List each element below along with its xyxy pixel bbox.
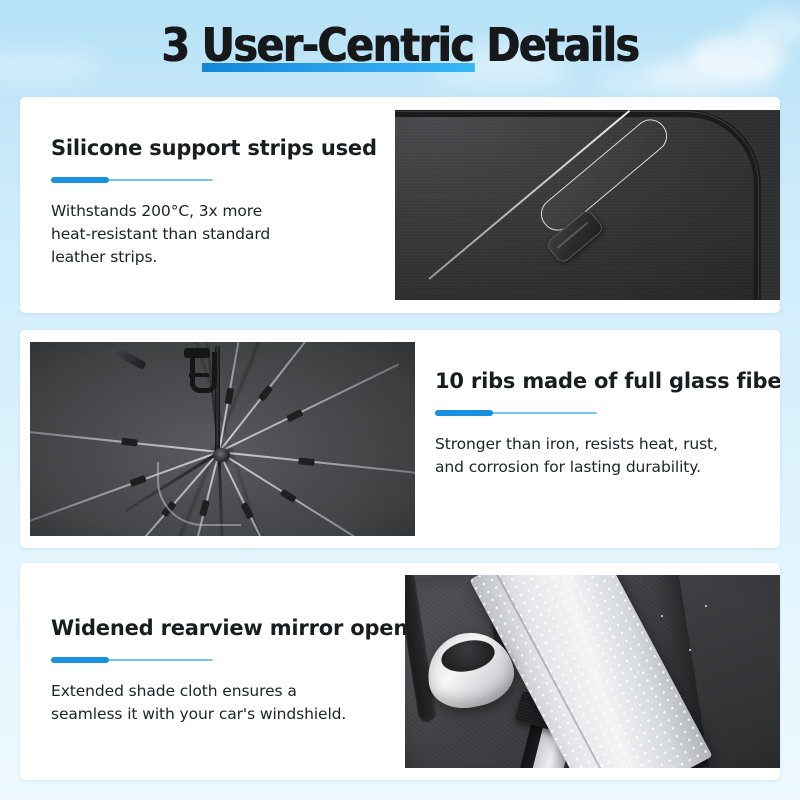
card-2-body: Stronger than iron, resists heat, rust, … [435,433,775,479]
page-title-prefix: 3 [161,18,201,72]
divider-fill [51,177,109,183]
page-title-underlined-text: User-Centric [202,18,474,72]
card-3-body: Extended shade cloth ensures a seamless … [51,680,411,726]
page-title: 3 User-Centric Details [161,14,638,76]
image-vignette [30,342,415,536]
card-3-text-block: Widened rearview mirror opening Extended… [51,615,411,726]
card-1-divider [51,177,213,183]
feature-card-glass-fiber-ribs[interactable]: 10 ribs made of full glass fiber Stronge… [20,330,780,548]
card-3-image-mirror-opening [405,575,780,768]
page-title-container: 3 User-Centric Details [0,14,800,84]
infographic-page: 3 User-Centric Details Silicone support … [0,0,800,800]
card-2-divider [435,410,597,416]
divider-fill [51,657,109,663]
card-3-divider [51,657,213,663]
card-2-heading: 10 ribs made of full glass fiber [435,368,775,394]
card-3-heading: Widened rearview mirror opening [51,615,411,641]
card-1-image-sunshade-corner [395,110,780,300]
card-1-text-block: Silicone support strips used Withstands … [51,135,381,269]
image-vignette [405,575,780,768]
card-2-image-umbrella-ribs [30,342,415,536]
page-title-highlight: User-Centric [202,14,474,76]
feature-card-silicone-strips[interactable]: Silicone support strips used Withstands … [20,97,780,313]
card-1-heading: Silicone support strips used [51,135,381,161]
divider-fill [435,410,493,416]
card-2-text-block: 10 ribs made of full glass fiber Stronge… [435,368,775,479]
page-title-suffix: Details [473,18,638,72]
card-1-body: Withstands 200°C, 3x more heat-resistant… [51,200,381,269]
feature-card-rearview-mirror-opening[interactable]: Widened rearview mirror opening Extended… [20,563,780,780]
